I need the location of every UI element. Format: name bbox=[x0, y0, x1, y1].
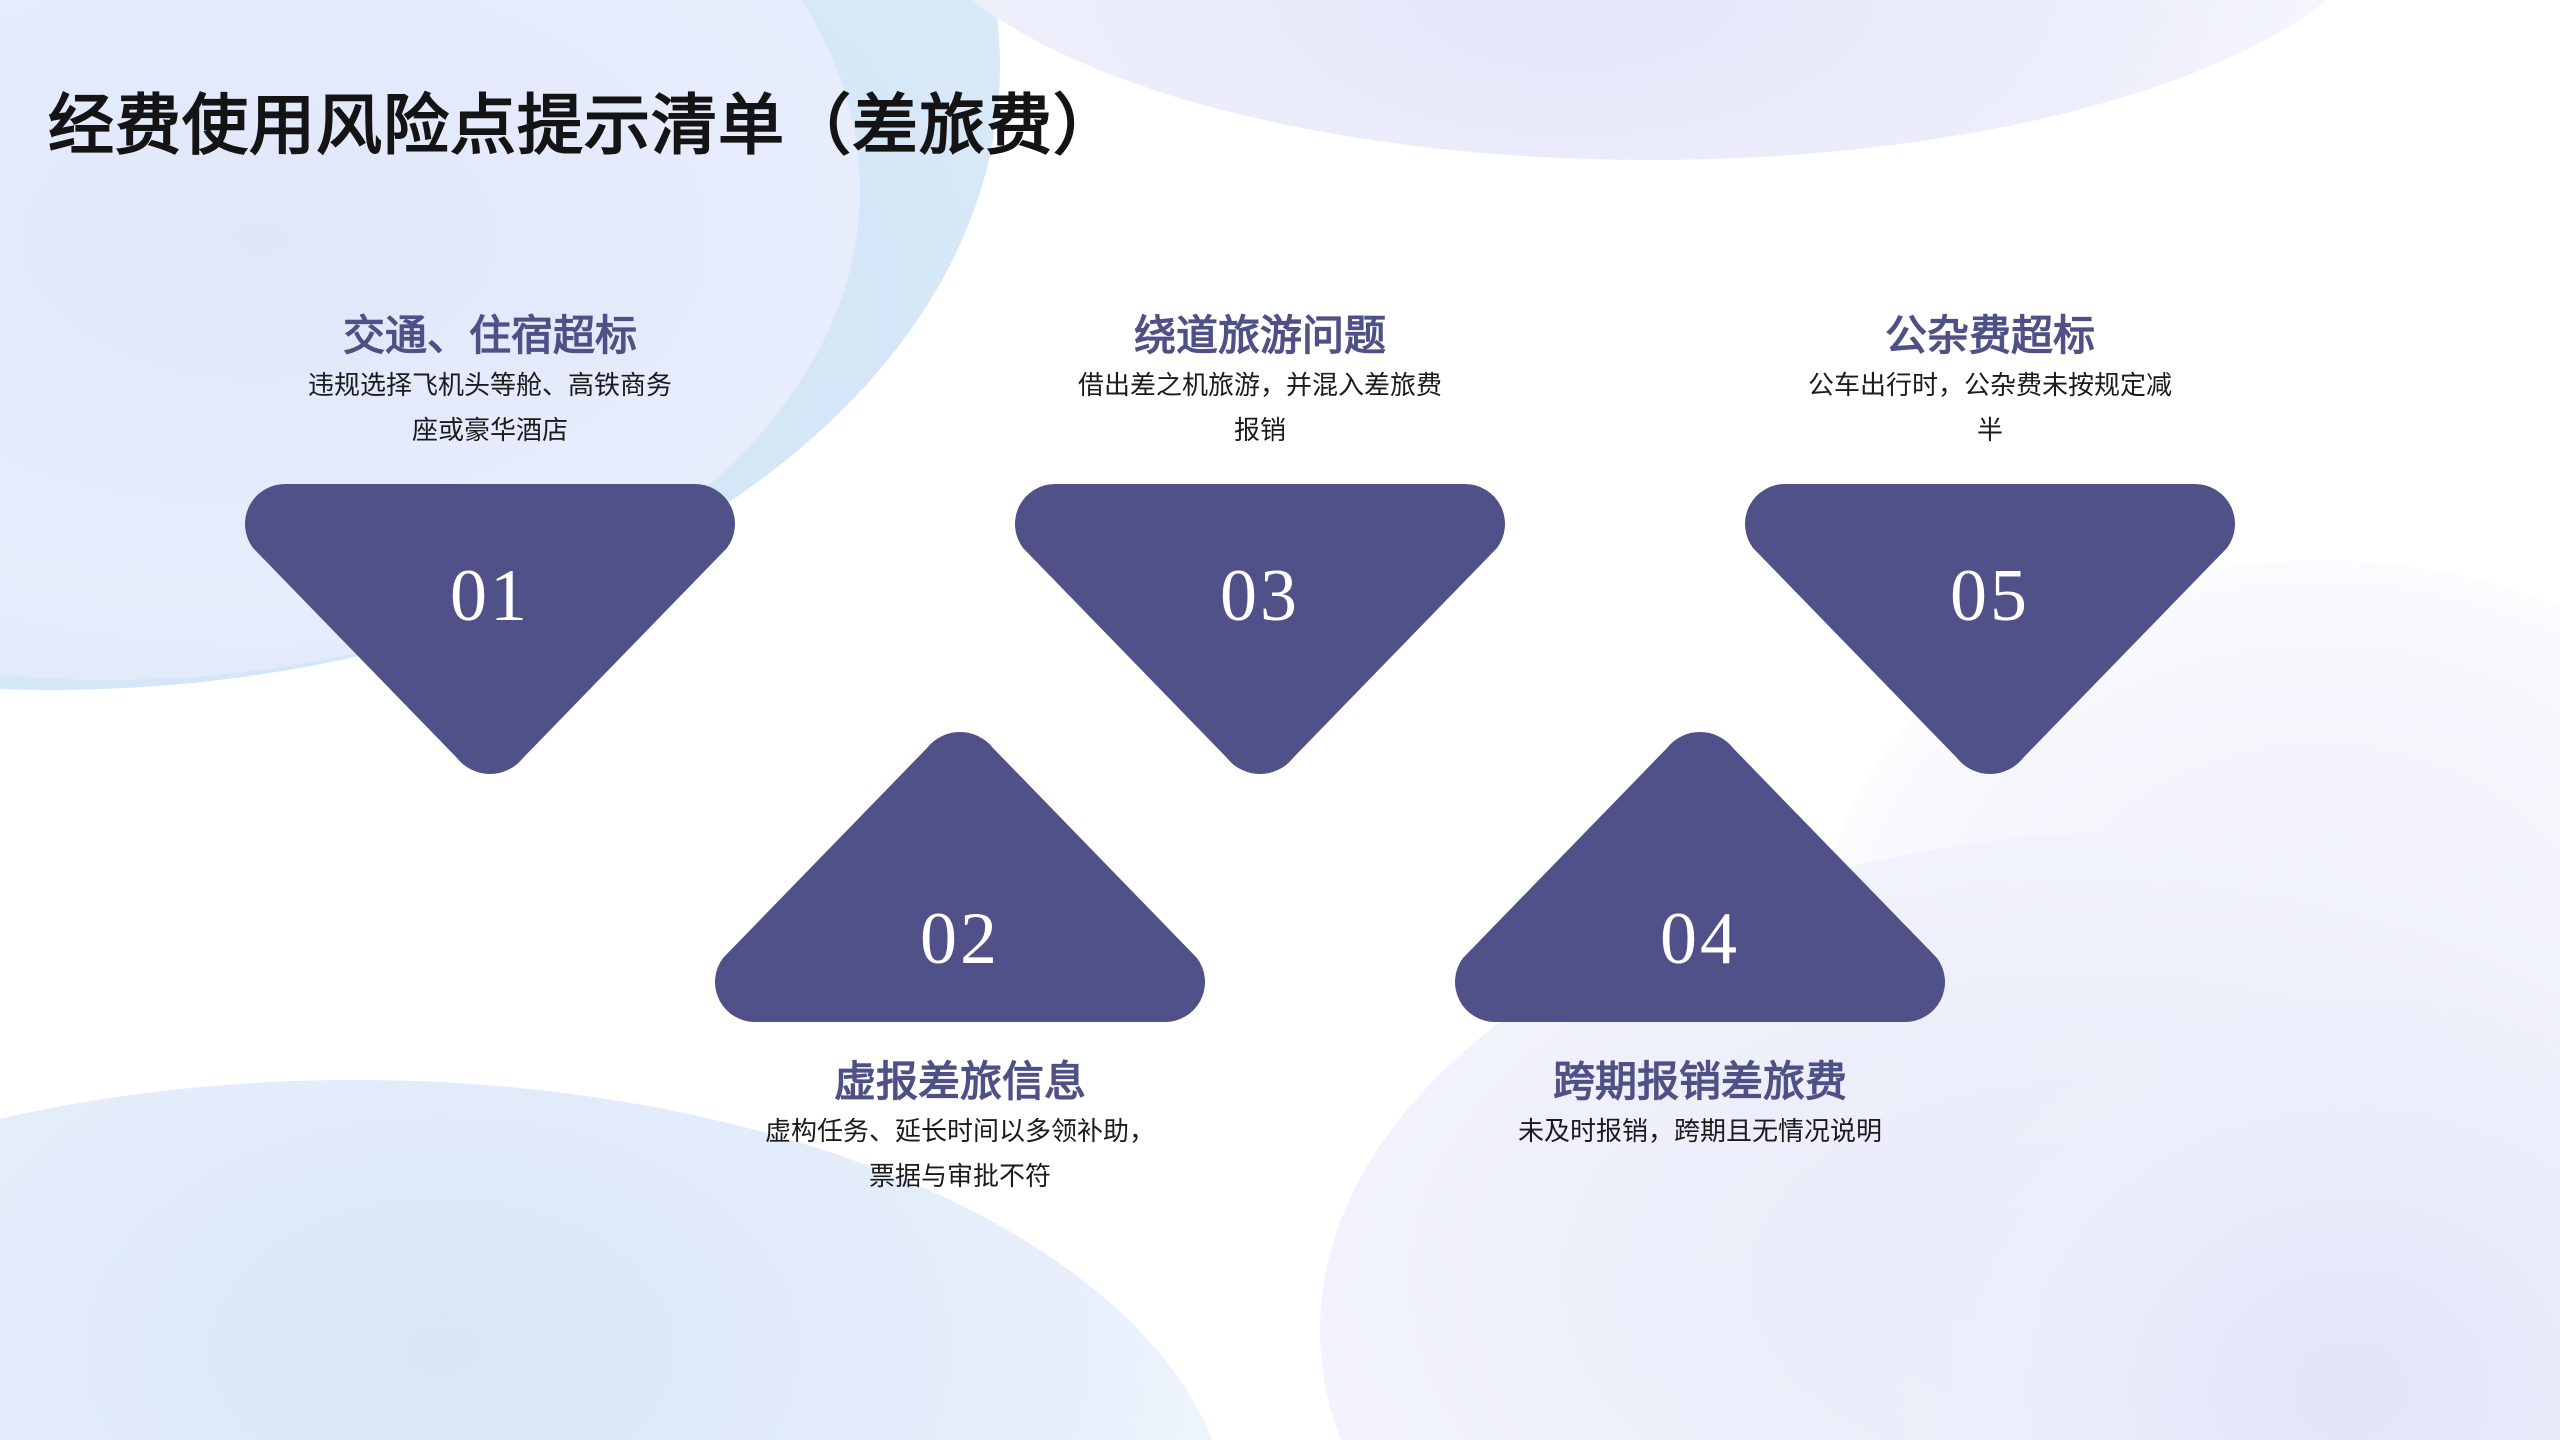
risk-item-01-description: 违规选择飞机头等舱、高铁商务 座或豪华酒店 bbox=[180, 363, 800, 454]
risk-item-02-description: 虚构任务、延长时间以多领补助， 票据与审批不符 bbox=[620, 1109, 1300, 1200]
risk-item-03-number: 03 bbox=[1010, 554, 1510, 639]
risk-item-03-description-line-2: 报销 bbox=[950, 408, 1570, 454]
risk-item-05-description: 公车出行时，公杂费未按规定减 半 bbox=[1680, 363, 2300, 454]
risk-item-05: 公杂费超标 公车出行时，公杂费未按规定减 半 05 bbox=[1680, 310, 2300, 776]
risk-item-04-heading: 跨期报销差旅费 bbox=[1360, 1056, 2040, 1109]
triangle-up-02: 02 bbox=[710, 730, 1210, 1030]
risk-item-01: 交通、住宿超标 违规选择飞机头等舱、高铁商务 座或豪华酒店 01 bbox=[180, 310, 800, 776]
triangle-up-shape-04 bbox=[1450, 730, 1950, 1030]
risk-item-02: 02 虚报差旅信息 虚构任务、延长时间以多领补助， 票据与审批不符 bbox=[620, 730, 1300, 1200]
risk-item-01-description-line-2: 座或豪华酒店 bbox=[180, 408, 800, 454]
risk-item-05-heading: 公杂费超标 bbox=[1680, 310, 2300, 363]
risk-item-03: 绕道旅游问题 借出差之机旅游，并混入差旅费 报销 03 bbox=[950, 310, 1570, 776]
risk-item-05-number: 05 bbox=[1740, 554, 2240, 639]
risk-item-05-description-line-2: 半 bbox=[1680, 408, 2300, 454]
page-title: 经费使用风险点提示清单（差旅费） bbox=[48, 72, 1120, 168]
risk-item-04: 04 跨期报销差旅费 未及时报销，跨期且无情况说明 bbox=[1360, 730, 2040, 1154]
risk-item-02-marker: 02 bbox=[620, 730, 1300, 1030]
risk-item-01-number: 01 bbox=[240, 554, 740, 639]
background-blob-top-center bbox=[900, 0, 2400, 160]
risk-item-04-number: 04 bbox=[1450, 897, 1950, 982]
risk-item-03-description-line-1: 借出差之机旅游，并混入差旅费 bbox=[950, 363, 1570, 409]
risk-item-01-heading: 交通、住宿超标 bbox=[180, 310, 800, 363]
risk-item-04-text: 跨期报销差旅费 未及时报销，跨期且无情况说明 bbox=[1360, 1056, 2040, 1154]
risk-item-04-marker: 04 bbox=[1360, 730, 2040, 1030]
risk-item-01-description-line-1: 违规选择飞机头等舱、高铁商务 bbox=[180, 363, 800, 409]
risk-item-03-heading: 绕道旅游问题 bbox=[950, 310, 1570, 363]
risk-item-02-description-line-2: 票据与审批不符 bbox=[620, 1154, 1300, 1200]
risk-item-04-description-line-1: 未及时报销，跨期且无情况说明 bbox=[1360, 1109, 2040, 1155]
risk-item-03-description: 借出差之机旅游，并混入差旅费 报销 bbox=[950, 363, 1570, 454]
triangle-up-04: 04 bbox=[1450, 730, 1950, 1030]
slide-canvas: 经费使用风险点提示清单（差旅费） 交通、住宿超标 违规选择飞机头等舱、高铁商务 … bbox=[0, 0, 2560, 1440]
triangle-up-shape-02 bbox=[710, 730, 1210, 1030]
risk-item-02-description-line-1: 虚构任务、延长时间以多领补助， bbox=[620, 1109, 1300, 1155]
risk-item-05-description-line-1: 公车出行时，公杂费未按规定减 bbox=[1680, 363, 2300, 409]
risk-item-02-heading: 虚报差旅信息 bbox=[620, 1056, 1300, 1109]
risk-item-04-description: 未及时报销，跨期且无情况说明 bbox=[1360, 1109, 2040, 1155]
risk-item-02-text: 虚报差旅信息 虚构任务、延长时间以多领补助， 票据与审批不符 bbox=[620, 1056, 1300, 1200]
risk-item-02-number: 02 bbox=[710, 897, 1210, 982]
